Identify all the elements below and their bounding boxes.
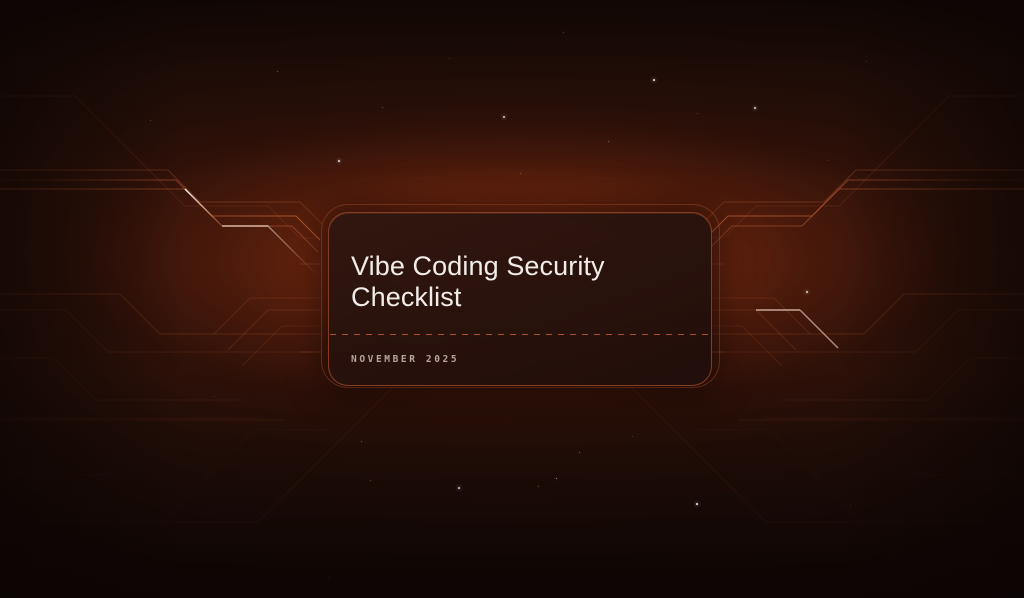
slide-canvas: Vibe Coding Security Checklist NOVEMBER …	[0, 0, 1024, 598]
title-card-content: Vibe Coding Security Checklist NOVEMBER …	[329, 213, 711, 385]
card-divider	[330, 334, 710, 335]
title-card: Vibe Coding Security Checklist NOVEMBER …	[328, 212, 712, 386]
trace-pulse-right	[756, 310, 1014, 348]
page-title: Vibe Coding Security Checklist	[351, 251, 681, 312]
card-date-label: NOVEMBER 2025	[351, 354, 459, 365]
